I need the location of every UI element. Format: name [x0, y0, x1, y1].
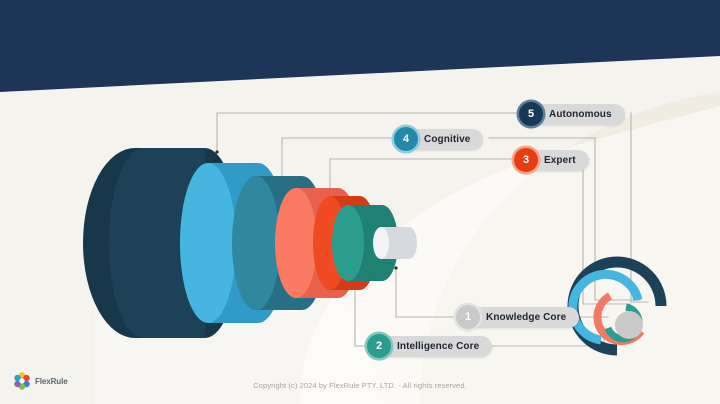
badge-number-1: 1	[456, 305, 480, 329]
badge-cognitive[interactable]: 4 Cognitive	[394, 127, 483, 151]
badge-knowledge-core[interactable]: 1 Knowledge Core	[456, 305, 579, 329]
flexrule-logo-text: FlexRule	[35, 377, 68, 386]
badge-expert[interactable]: 3 Expert	[514, 148, 589, 172]
badge-intelligence-core[interactable]: 2 Intelligence Core	[367, 334, 492, 358]
badge-number-2: 2	[367, 334, 391, 358]
badge-number-4: 4	[394, 127, 418, 151]
badge-autonomous[interactable]: 5 Autonomous	[519, 102, 625, 126]
badge-number-3: 3	[514, 148, 538, 172]
badge-number-5: 5	[519, 102, 543, 126]
flexrule-logo[interactable]: FlexRule	[12, 371, 68, 391]
slide-canvas: Decision Intelligence Architecture The L…	[0, 0, 720, 404]
pinwheel-flower-logo-icon	[12, 371, 32, 391]
copyright-text: Copyright (c) 2024 by FlexRule PTY. LTD.…	[0, 381, 720, 390]
